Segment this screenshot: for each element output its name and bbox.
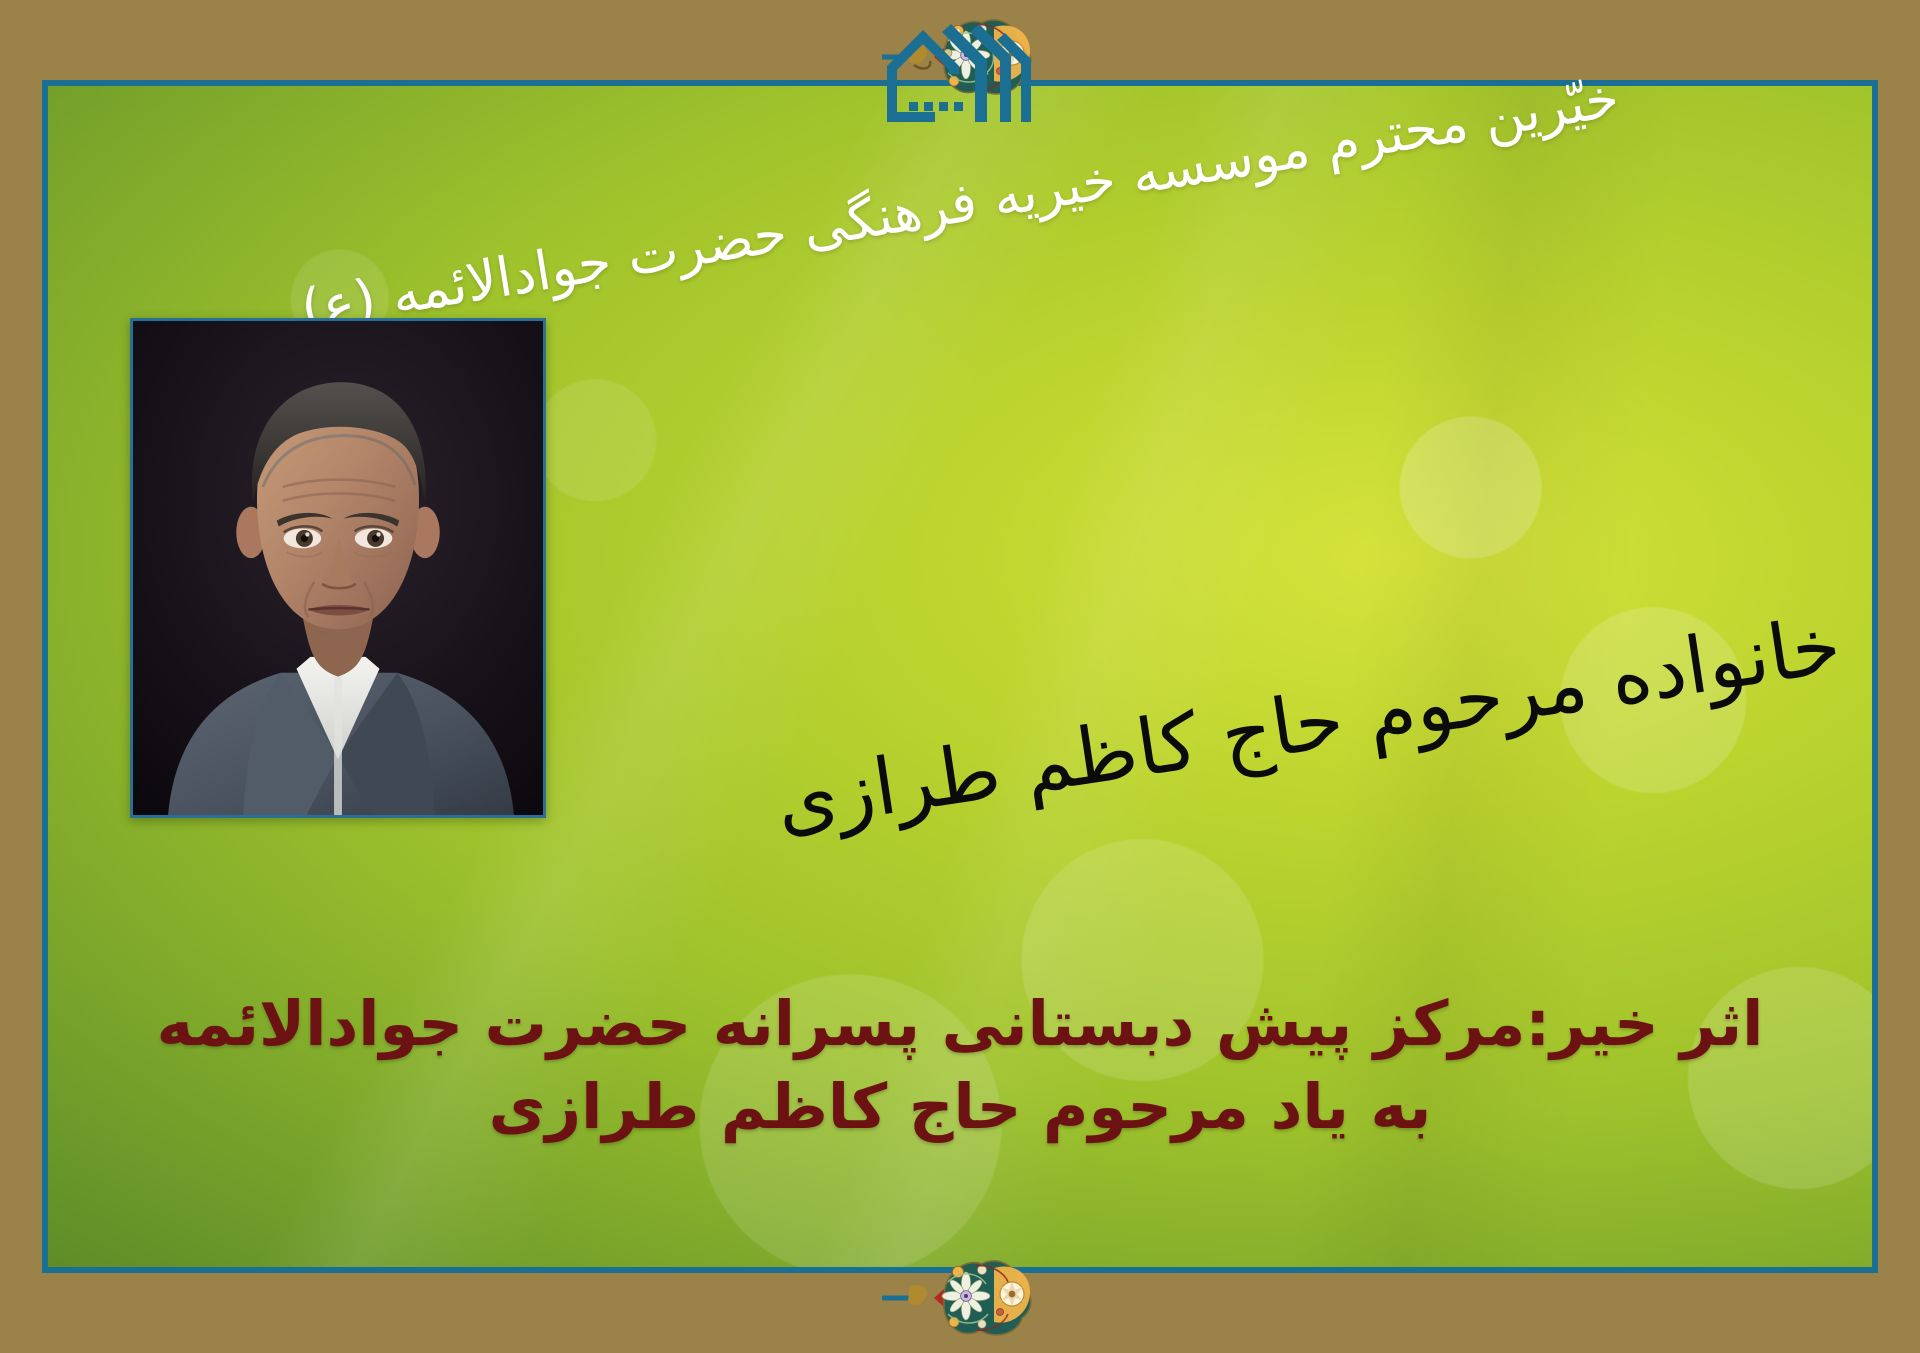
javad-al-aemeh-building-logo <box>885 18 1035 122</box>
dedication-text-block: اثر خیر:مرکز پیش دبستانی پسرانه حضرت جوا… <box>70 982 1850 1148</box>
portrait-of-haj-kazem-tarazi <box>130 318 546 818</box>
charity-plaque: خیّرین محترم موسسه خیریه فرهنگی حضرت جوا… <box>0 0 1920 1353</box>
portrait-image <box>133 321 543 815</box>
dedication-value: مرکز پیش دبستانی پسرانه حضرت جوادالائمه <box>157 987 1526 1060</box>
dedication-line-2: به یاد مرحوم حاج کاظم طرازی <box>70 1065 1850 1148</box>
dedication-line-1: اثر خیر:مرکز پیش دبستانی پسرانه حضرت جوا… <box>70 982 1850 1065</box>
dedication-label: اثر خیر: <box>1525 987 1763 1060</box>
